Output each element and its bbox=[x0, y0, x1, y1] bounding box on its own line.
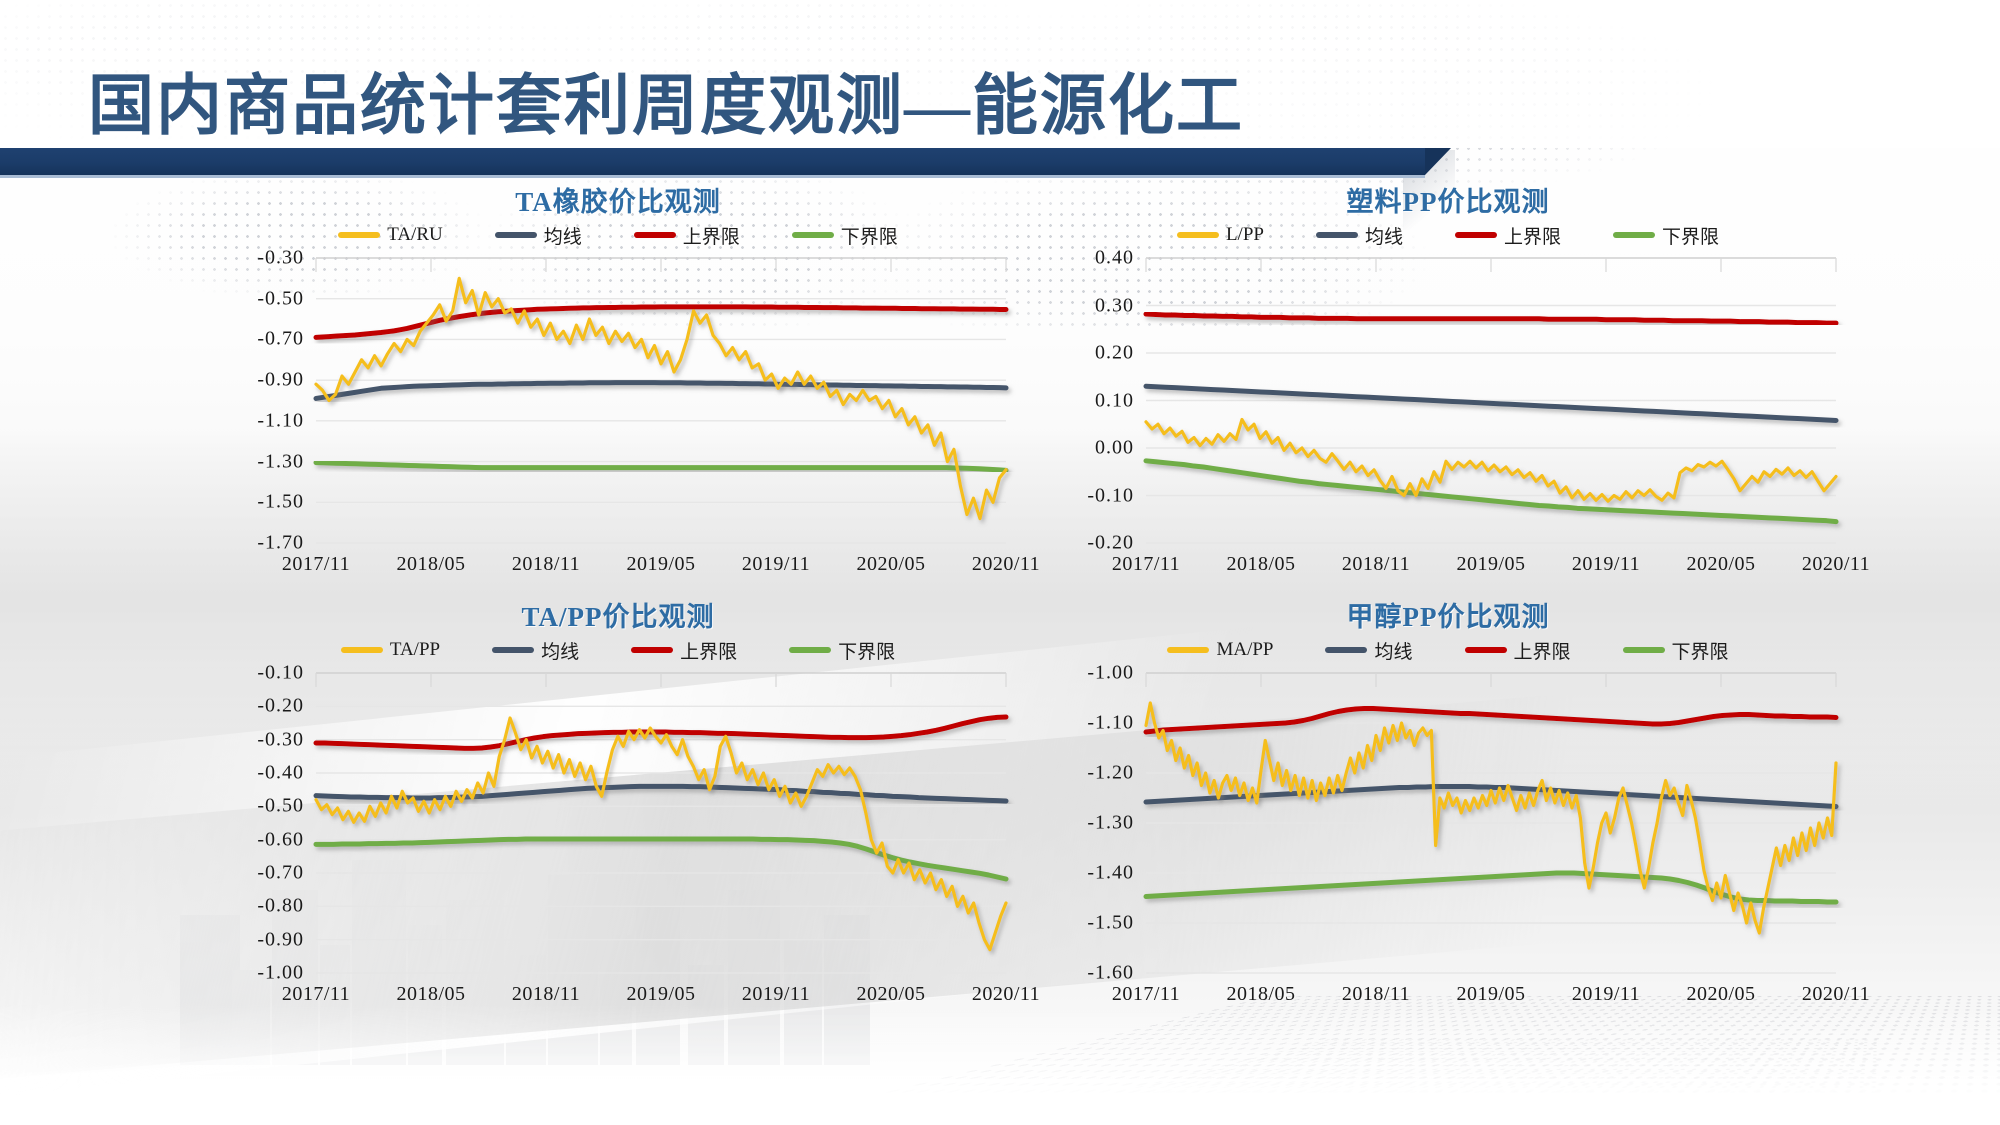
x-tick-label: 2020/05 bbox=[856, 983, 925, 1006]
y-tick-label: -0.50 bbox=[257, 287, 304, 310]
legend-item-mean[interactable]: 均线 bbox=[495, 222, 582, 249]
x-tick-label: 2020/05 bbox=[1686, 983, 1755, 1006]
x-tick-label: 2019/11 bbox=[1572, 983, 1640, 1006]
legend-label-mean: 均线 bbox=[1365, 222, 1403, 249]
y-tick-label: -1.30 bbox=[1087, 812, 1134, 835]
y-tick-label: -0.10 bbox=[1087, 484, 1134, 507]
legend-label-upper: 上界限 bbox=[1514, 637, 1571, 664]
x-tick-label: 2020/05 bbox=[856, 553, 925, 576]
legend-swatch-mean-icon bbox=[492, 647, 534, 653]
chart-title-ta-ru: TA橡胶价比观测 bbox=[230, 180, 1006, 219]
y-tick-label: 0.10 bbox=[1095, 389, 1134, 412]
legend-label-lower: 下界限 bbox=[841, 222, 898, 249]
x-axis-labels-ma-pp: 2017/112018/052018/112019/052019/112020/… bbox=[1146, 983, 1836, 1011]
series-line-均线 bbox=[316, 786, 1006, 801]
y-tick-label: -0.70 bbox=[257, 862, 304, 885]
x-tick-label: 2020/11 bbox=[972, 553, 1040, 576]
slide-header: 国内商品统计套利周度观测—能源化工 bbox=[0, 0, 2000, 175]
y-tick-label: -1.10 bbox=[257, 409, 304, 432]
y-tick-label: 0.40 bbox=[1095, 247, 1134, 270]
y-tick-label: -1.30 bbox=[257, 450, 304, 473]
legend-swatch-lower-icon bbox=[1613, 232, 1655, 238]
y-tick-label: -1.50 bbox=[257, 491, 304, 514]
x-tick-label: 2018/11 bbox=[1342, 553, 1410, 576]
legend-item-upper[interactable]: 上界限 bbox=[1455, 222, 1561, 249]
series-line-均线 bbox=[316, 383, 1006, 399]
legend-item-ratio[interactable]: TA/RU bbox=[338, 224, 442, 246]
y-tick-label: 0.20 bbox=[1095, 342, 1134, 365]
x-tick-label: 2019/05 bbox=[626, 983, 695, 1006]
plot-area-ma-pp: -1.00-1.10-1.20-1.30-1.40-1.50-1.602017/… bbox=[1060, 673, 1836, 1013]
y-tick-label: -0.50 bbox=[257, 795, 304, 818]
legend-label-upper: 上界限 bbox=[683, 222, 740, 249]
x-tick-label: 2018/05 bbox=[396, 983, 465, 1006]
x-axis-labels-l-pp: 2017/112018/052018/112019/052019/112020/… bbox=[1146, 553, 1836, 581]
x-axis-labels-ta-ru: 2017/112018/052018/112019/052019/112020/… bbox=[316, 553, 1006, 581]
legend-item-lower[interactable]: 下界限 bbox=[789, 637, 895, 664]
legend-label-lower: 下界限 bbox=[838, 637, 895, 664]
y-tick-label: -0.80 bbox=[257, 895, 304, 918]
legend-swatch-upper-icon bbox=[1465, 647, 1507, 653]
legend-swatch-lower-icon bbox=[792, 232, 834, 238]
plot-canvas-ma-pp bbox=[1146, 673, 1836, 973]
legend-swatch-ratio-icon bbox=[341, 647, 383, 653]
x-tick-label: 2020/11 bbox=[972, 983, 1040, 1006]
chart-legend-ma-pp: MA/PP均线上界限下界限 bbox=[1060, 637, 1836, 663]
legend-label-upper: 上界限 bbox=[1504, 222, 1561, 249]
chart-title-ma-pp: 甲醇PP价比观测 bbox=[1060, 595, 1836, 634]
series-line-上界限 bbox=[1146, 709, 1836, 733]
series-line-均线 bbox=[1146, 386, 1836, 420]
x-axis-labels-ta-pp: 2017/112018/052018/112019/052019/112020/… bbox=[316, 983, 1006, 1011]
legend-item-upper[interactable]: 上界限 bbox=[631, 637, 737, 664]
plot-area-ta-ru: -0.30-0.50-0.70-0.90-1.10-1.30-1.50-1.70… bbox=[230, 258, 1006, 583]
y-tick-label: -0.40 bbox=[257, 762, 304, 785]
page-title: 国内商品统计套利周度观测—能源化工 bbox=[88, 52, 1244, 148]
y-axis-labels-ma-pp: -1.00-1.10-1.20-1.30-1.40-1.50-1.60 bbox=[1060, 673, 1134, 973]
legend-item-ratio[interactable]: L/PP bbox=[1177, 224, 1264, 246]
series-line-TA/PP bbox=[316, 718, 1006, 950]
y-tick-label: -0.30 bbox=[257, 728, 304, 751]
legend-item-upper[interactable]: 上界限 bbox=[634, 222, 740, 249]
legend-swatch-upper-icon bbox=[631, 647, 673, 653]
y-tick-label: -1.10 bbox=[1087, 712, 1134, 735]
x-tick-label: 2018/05 bbox=[1226, 553, 1295, 576]
x-tick-label: 2019/11 bbox=[742, 553, 810, 576]
y-tick-label: -1.70 bbox=[257, 532, 304, 555]
legend-swatch-ratio-icon bbox=[338, 232, 380, 238]
x-tick-label: 2020/11 bbox=[1802, 983, 1870, 1006]
y-tick-label: -0.90 bbox=[257, 928, 304, 951]
x-tick-label: 2020/05 bbox=[1686, 553, 1755, 576]
y-tick-label: -0.30 bbox=[257, 247, 304, 270]
legend-label-ratio: MA/PP bbox=[1216, 639, 1273, 661]
y-tick-label: -0.10 bbox=[257, 662, 304, 685]
y-tick-label: 0.00 bbox=[1095, 437, 1134, 460]
legend-swatch-ratio-icon bbox=[1177, 232, 1219, 238]
y-tick-label: -0.70 bbox=[257, 328, 304, 351]
legend-item-mean[interactable]: 均线 bbox=[1316, 222, 1403, 249]
legend-swatch-upper-icon bbox=[634, 232, 676, 238]
series-line-上界限 bbox=[1146, 314, 1836, 323]
legend-item-mean[interactable]: 均线 bbox=[1325, 637, 1412, 664]
legend-swatch-mean-icon bbox=[1325, 647, 1367, 653]
series-line-下界限 bbox=[316, 463, 1006, 471]
chart-title-l-pp: 塑料PP价比观测 bbox=[1060, 180, 1836, 219]
y-axis-labels-l-pp: 0.400.300.200.100.00-0.10-0.20 bbox=[1060, 258, 1134, 543]
y-tick-label: -0.20 bbox=[257, 695, 304, 718]
y-tick-label: -1.50 bbox=[1087, 912, 1134, 935]
x-tick-label: 2018/05 bbox=[1226, 983, 1295, 1006]
legend-label-lower: 下界限 bbox=[1662, 222, 1719, 249]
y-tick-label: -0.20 bbox=[1087, 532, 1134, 555]
plot-canvas-ta-pp bbox=[316, 673, 1006, 973]
y-tick-label: -0.60 bbox=[257, 828, 304, 851]
x-tick-label: 2019/11 bbox=[1572, 553, 1640, 576]
legend-swatch-lower-icon bbox=[789, 647, 831, 653]
plot-area-ta-pp: -0.10-0.20-0.30-0.40-0.50-0.60-0.70-0.80… bbox=[230, 673, 1006, 1013]
legend-swatch-ratio-icon bbox=[1167, 647, 1209, 653]
x-tick-label: 2020/11 bbox=[1802, 553, 1870, 576]
y-axis-labels-ta-pp: -0.10-0.20-0.30-0.40-0.50-0.60-0.70-0.80… bbox=[230, 673, 304, 973]
x-tick-label: 2019/05 bbox=[626, 553, 695, 576]
x-tick-label: 2019/05 bbox=[1456, 983, 1525, 1006]
y-tick-label: -1.60 bbox=[1087, 962, 1134, 985]
chart-legend-ta-ru: TA/RU均线上界限下界限 bbox=[230, 222, 1006, 248]
legend-label-lower: 下界限 bbox=[1672, 637, 1729, 664]
y-tick-label: -1.40 bbox=[1087, 862, 1134, 885]
x-tick-label: 2017/11 bbox=[282, 553, 350, 576]
legend-label-ratio: TA/PP bbox=[390, 639, 440, 661]
plot-canvas-ta-ru bbox=[316, 258, 1006, 543]
legend-swatch-mean-icon bbox=[495, 232, 537, 238]
chart-legend-l-pp: L/PP均线上界限下界限 bbox=[1060, 222, 1836, 248]
legend-swatch-lower-icon bbox=[1623, 647, 1665, 653]
y-tick-label: -1.00 bbox=[1087, 662, 1134, 685]
legend-item-lower[interactable]: 下界限 bbox=[1623, 637, 1729, 664]
plot-area-l-pp: 0.400.300.200.100.00-0.10-0.202017/11201… bbox=[1060, 258, 1836, 583]
series-line-TA/RU bbox=[316, 278, 1006, 518]
header-accent-bar bbox=[0, 148, 1425, 175]
x-tick-label: 2017/11 bbox=[282, 983, 350, 1006]
legend-label-ratio: L/PP bbox=[1226, 224, 1264, 246]
charts-grid: TA橡胶价比观测TA/RU均线上界限下界限-0.30-0.50-0.70-0.9… bbox=[0, 180, 2000, 1080]
y-tick-label: -0.90 bbox=[257, 369, 304, 392]
x-tick-label: 2017/11 bbox=[1112, 983, 1180, 1006]
legend-label-mean: 均线 bbox=[1374, 637, 1412, 664]
legend-label-ratio: TA/RU bbox=[387, 224, 442, 246]
x-tick-label: 2018/05 bbox=[396, 553, 465, 576]
x-tick-label: 2018/11 bbox=[512, 553, 580, 576]
series-line-MA/PP bbox=[1146, 703, 1836, 933]
legend-label-upper: 上界限 bbox=[680, 637, 737, 664]
legend-item-mean[interactable]: 均线 bbox=[492, 637, 579, 664]
legend-item-upper[interactable]: 上界限 bbox=[1465, 637, 1571, 664]
legend-item-ratio[interactable]: TA/PP bbox=[341, 639, 440, 661]
x-tick-label: 2019/11 bbox=[742, 983, 810, 1006]
y-tick-label: 0.30 bbox=[1095, 294, 1134, 317]
y-axis-labels-ta-ru: -0.30-0.50-0.70-0.90-1.10-1.30-1.50-1.70 bbox=[230, 258, 304, 543]
y-tick-label: -1.00 bbox=[257, 962, 304, 985]
legend-item-lower[interactable]: 下界限 bbox=[1613, 222, 1719, 249]
x-tick-label: 2017/11 bbox=[1112, 553, 1180, 576]
chart-legend-ta-pp: TA/PP均线上界限下界限 bbox=[230, 637, 1006, 663]
header-accent-underline bbox=[0, 175, 1425, 178]
x-tick-label: 2018/11 bbox=[512, 983, 580, 1006]
series-line-L/PP bbox=[1146, 420, 1836, 502]
series-line-下界限 bbox=[1146, 873, 1836, 902]
legend-label-mean: 均线 bbox=[544, 222, 582, 249]
legend-swatch-upper-icon bbox=[1455, 232, 1497, 238]
x-tick-label: 2019/05 bbox=[1456, 553, 1525, 576]
chart-title-ta-pp: TA/PP价比观测 bbox=[230, 595, 1006, 634]
legend-item-lower[interactable]: 下界限 bbox=[792, 222, 898, 249]
legend-swatch-mean-icon bbox=[1316, 232, 1358, 238]
legend-label-mean: 均线 bbox=[541, 637, 579, 664]
y-tick-label: -1.20 bbox=[1087, 762, 1134, 785]
legend-item-ratio[interactable]: MA/PP bbox=[1167, 639, 1273, 661]
plot-canvas-l-pp bbox=[1146, 258, 1836, 543]
x-tick-label: 2018/11 bbox=[1342, 983, 1410, 1006]
